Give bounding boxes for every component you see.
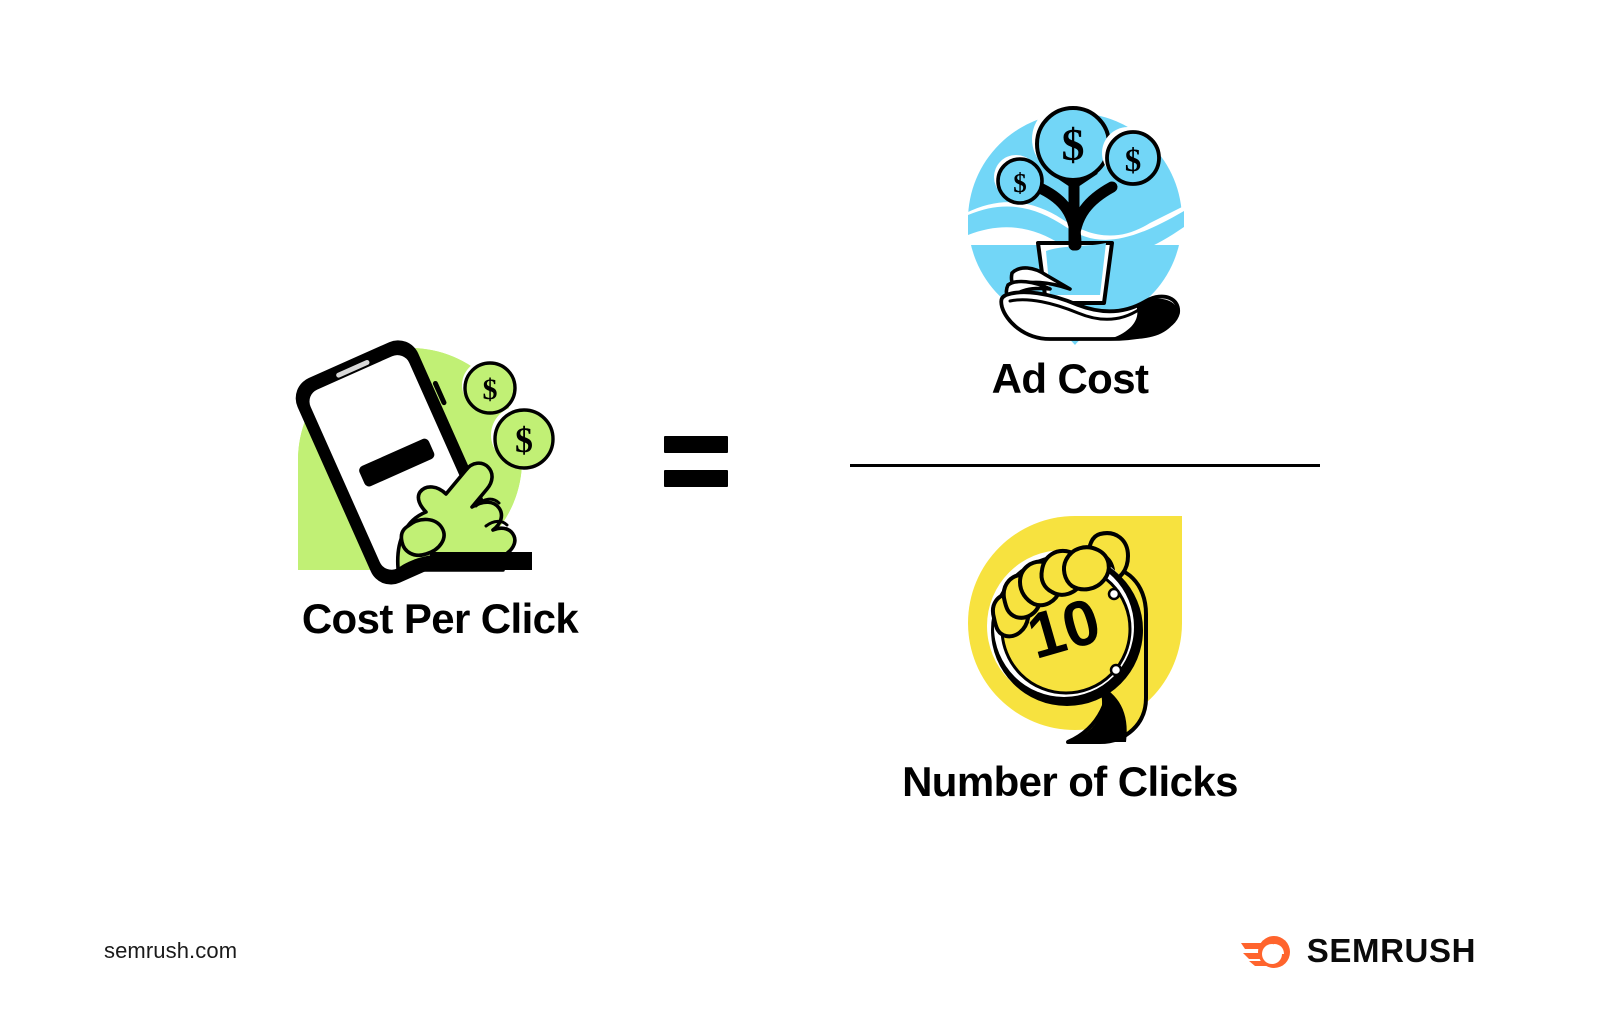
equals-sign xyxy=(664,436,728,494)
svg-text:$: $ xyxy=(1125,143,1142,179)
left-term-cost-per-click: $ $ Cost Per Click xyxy=(280,330,600,670)
denominator-number-of-clicks: 10 Number of Clicks xyxy=(820,490,1320,830)
hand-holding-counter-badge-icon: 10 xyxy=(950,498,1200,748)
svg-text:$: $ xyxy=(515,420,533,460)
dollar-coin-small: $ xyxy=(462,360,515,413)
numerator-ad-cost: $ $ $ xyxy=(820,90,1320,430)
left-term-label: Cost Per Click xyxy=(260,595,620,643)
equals-bar-top xyxy=(664,436,728,453)
fraction-expression: $ $ $ xyxy=(820,90,1320,830)
numerator-label: Ad Cost xyxy=(820,355,1320,403)
svg-text:$: $ xyxy=(483,373,498,406)
svg-text:$: $ xyxy=(1013,168,1027,198)
semrush-comet-logo-icon xyxy=(1241,931,1293,969)
svg-text:$: $ xyxy=(1062,119,1085,170)
denominator-label: Number of Clicks xyxy=(780,758,1360,806)
infographic-canvas: $ $ Cost Per Click xyxy=(0,0,1600,1026)
hand-holding-money-plant-icon: $ $ $ xyxy=(950,95,1200,345)
semrush-wordmark: SEMRUSH xyxy=(1307,934,1476,967)
footer-website-url: semrush.com xyxy=(104,938,237,964)
hand-tapping-phone-with-dollar-coins-icon: $ $ xyxy=(280,330,600,570)
fraction-divider-line xyxy=(850,464,1320,467)
equals-bar-bottom xyxy=(664,470,728,487)
semrush-logo: SEMRUSH xyxy=(1241,928,1476,972)
